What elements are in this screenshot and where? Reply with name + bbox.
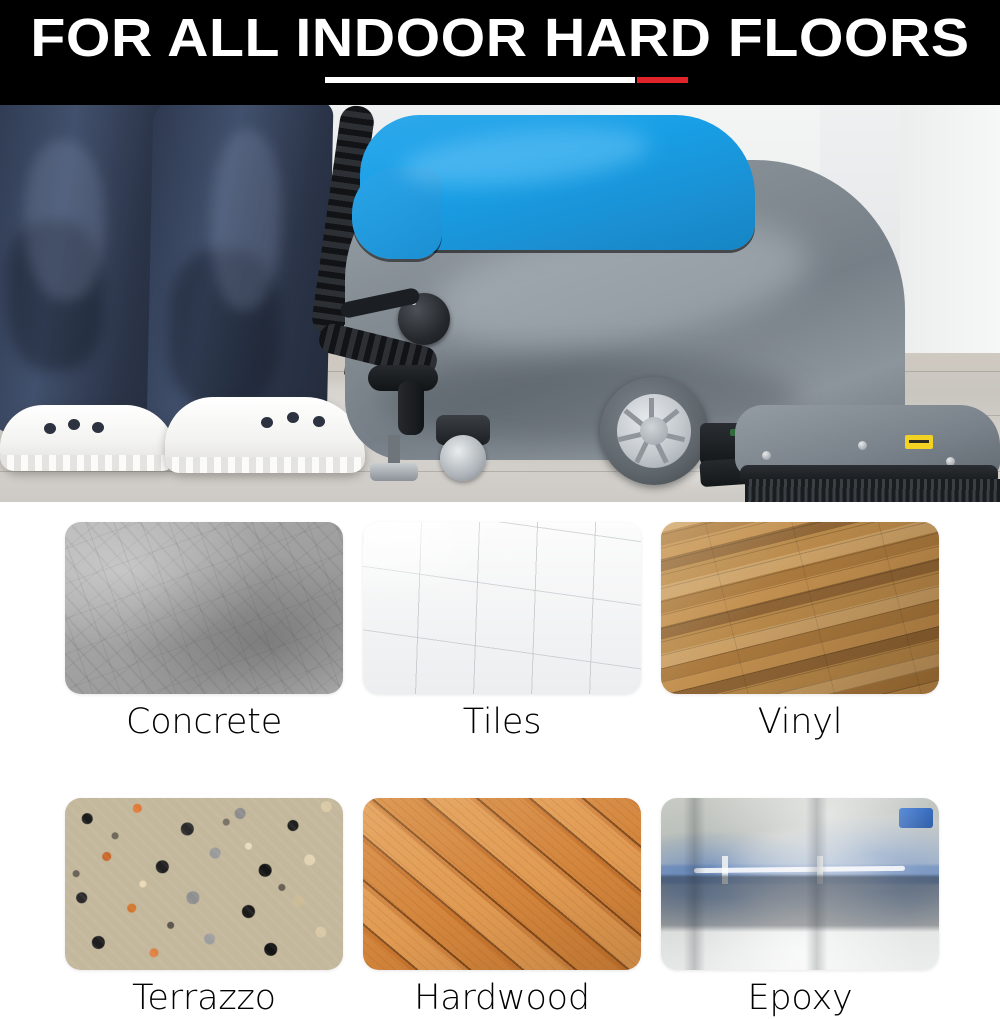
swatch-terrazzo	[65, 798, 343, 970]
caster-wheel	[440, 435, 486, 481]
product-infographic: FOR ALL INDOOR HARD FLOORS	[0, 0, 1000, 1000]
wheel-hub-center	[640, 417, 668, 445]
epoxy-reflection-blue-tab	[899, 808, 933, 828]
hero-photo-floor-scrubber	[0, 105, 1000, 502]
swatch-hardwood	[363, 798, 641, 970]
adjuster-foot	[370, 463, 418, 481]
floor-type-label: Terrazzo	[65, 977, 343, 1019]
floor-type-label: Vinyl	[661, 701, 939, 743]
floor-type-card-terrazzo[interactable]: Terrazzo	[65, 798, 343, 1019]
swatch-concrete	[65, 522, 343, 694]
floor-type-card-tiles[interactable]: Tiles	[363, 522, 641, 743]
floor-types-section: Concrete Tiles Vinyl Terrazzo	[0, 502, 1000, 1000]
operator-shoe-left	[0, 405, 176, 471]
deck-bolt	[762, 451, 771, 460]
operator-shoe-right	[165, 397, 365, 473]
floor-type-label: Concrete	[65, 701, 343, 743]
floor-type-label: Tiles	[363, 701, 641, 743]
floor-type-card-epoxy[interactable]: Epoxy	[661, 798, 939, 1019]
floor-type-label: Hardwood	[363, 977, 641, 1019]
title-underline-red-accent	[637, 77, 688, 83]
floor-types-row-2: Terrazzo Hardwood Epoxy	[65, 798, 940, 1019]
floor-type-card-hardwood[interactable]: Hardwood	[363, 798, 641, 1019]
floor-type-card-concrete[interactable]: Concrete	[65, 522, 343, 743]
scrub-brush-bristles	[745, 479, 1000, 502]
warning-label-icon	[905, 435, 933, 449]
wall-right	[900, 105, 1000, 365]
swatch-epoxy	[661, 798, 939, 970]
swatch-vinyl	[661, 522, 939, 694]
page-title: FOR ALL INDOOR HARD FLOORS	[0, 8, 1000, 68]
swatch-tiles	[363, 522, 641, 694]
floor-type-label: Epoxy	[661, 977, 939, 1019]
floor-types-grid: Concrete Tiles Vinyl Terrazzo	[65, 522, 940, 1019]
floor-type-card-vinyl[interactable]: Vinyl	[661, 522, 939, 743]
suction-pipe-elbow	[398, 381, 424, 435]
title-underline-white	[325, 77, 635, 83]
header-banner: FOR ALL INDOOR HARD FLOORS	[0, 0, 1000, 105]
operator-leg-right	[147, 105, 334, 438]
deck-bolt	[858, 441, 867, 450]
floor-types-row-1: Concrete Tiles Vinyl	[65, 522, 940, 743]
